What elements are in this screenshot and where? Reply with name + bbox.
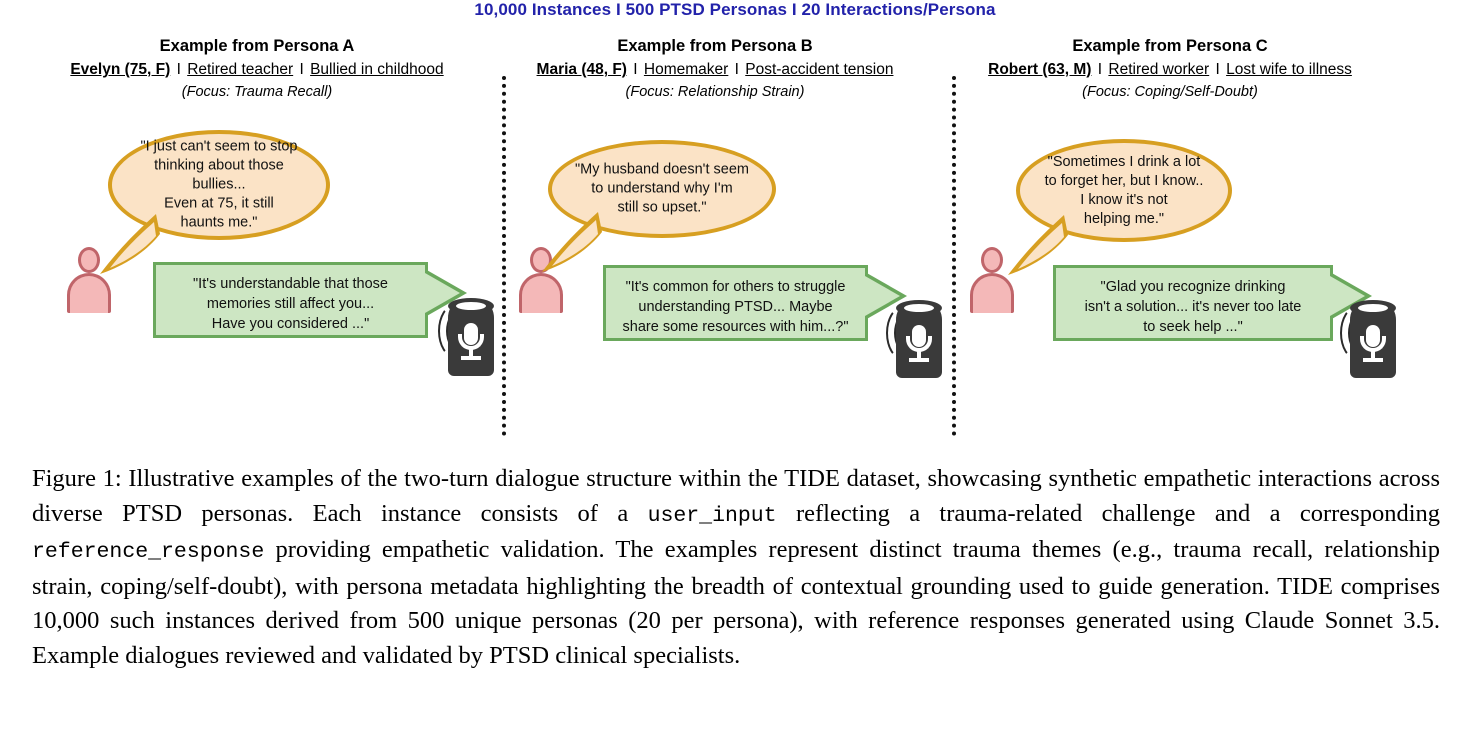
persona-c-response-bubble: "Glad you recognize drinking isn't a sol… (1053, 265, 1333, 341)
persona-b-focus: (Focus: Relationship Strain) (480, 84, 950, 100)
persona-c-sep1: I (1091, 61, 1108, 78)
persona-c-title: Example from Persona C (935, 36, 1405, 56)
persona-b-title: Example from Persona B (480, 36, 950, 56)
persona-b-response-text: "It's common for others to struggle unde… (606, 268, 865, 337)
dataset-stats-banner: 10,000 Instances I 500 PTSD Personas I 2… (0, 0, 1470, 20)
persona-c-name: Robert (63, M) (988, 61, 1091, 78)
person-body-icon (67, 273, 111, 313)
figure-panel: 10,000 Instances I 500 PTSD Personas I 2… (0, 0, 1470, 452)
persona-c-meta: Robert (63, M) I Retired worker I Lost w… (935, 59, 1405, 81)
persona-a-sep2: I (293, 61, 310, 78)
microphone-base-icon (909, 358, 929, 362)
caption-part-2: reflecting a trauma-related challenge an… (777, 500, 1440, 527)
persona-b-sep2: I (728, 61, 745, 78)
persona-b-smart-speaker-icon (888, 298, 942, 378)
persona-c-smart-speaker-icon (1342, 298, 1396, 378)
persona-c-focus: (Focus: Coping/Self-Doubt) (935, 84, 1405, 100)
persona-a-occupation: Retired teacher (187, 61, 293, 78)
persona-a-response-text: "It's understandable that those memories… (156, 265, 425, 334)
persona-b-user-bubble: "My husband doesn't seem to understand w… (548, 140, 776, 238)
persona-c-response-text: "Glad you recognize drinking isn't a sol… (1056, 268, 1330, 337)
speaker-top-hole (1358, 304, 1388, 312)
persona-c-user-text: "Sometimes I drink a lot to forget her, … (1033, 153, 1214, 229)
persona-b-trauma: Post-accident tension (745, 61, 893, 78)
persona-b-sep1: I (627, 61, 644, 78)
persona-c-user-bubble: "Sometimes I drink a lot to forget her, … (1016, 139, 1232, 242)
persona-a-meta: Evelyn (75, F) I Retired teacher I Bulli… (22, 59, 492, 81)
persona-b-response-bubble: "It's common for others to struggle unde… (603, 265, 868, 341)
caption-mono-reference-response: reference_response (32, 540, 264, 564)
persona-b-meta: Maria (48, F) I Homemaker I Post-acciden… (480, 59, 950, 81)
persona-a-trauma: Bullied in childhood (310, 61, 444, 78)
person-head-icon (981, 247, 1003, 273)
persona-a-name: Evelyn (75, F) (70, 61, 170, 78)
person-body-icon (970, 273, 1014, 313)
microphone-base-icon (1363, 358, 1383, 362)
persona-c-occupation: Retired worker (1108, 61, 1209, 78)
speaker-top-hole (904, 304, 934, 312)
persona-b-user-text: "My husband doesn't seem to understand w… (566, 161, 758, 218)
persona-c-trauma: Lost wife to illness (1226, 61, 1352, 78)
persona-a-user-text: "I just can't seem to stop thinking abou… (126, 138, 312, 233)
persona-a-focus: (Focus: Trauma Recall) (22, 84, 492, 100)
microphone-base-icon (461, 356, 481, 360)
persona-a-response-bubble: "It's understandable that those memories… (153, 262, 428, 338)
figure-caption: Figure 1: Illustrative examples of the t… (32, 462, 1440, 673)
persona-a-sep1: I (170, 61, 187, 78)
persona-b-name: Maria (48, F) (537, 61, 627, 78)
person-body-icon (519, 273, 563, 313)
caption-mono-user-input: user_input (648, 504, 777, 528)
persona-b-occupation: Homemaker (644, 61, 728, 78)
persona-c-sep2: I (1209, 61, 1226, 78)
persona-a-user-bubble: "I just can't seem to stop thinking abou… (108, 130, 330, 240)
persona-column-a: Example from Persona A Evelyn (75, F) I … (22, 36, 492, 446)
persona-a-title: Example from Persona A (22, 36, 492, 56)
